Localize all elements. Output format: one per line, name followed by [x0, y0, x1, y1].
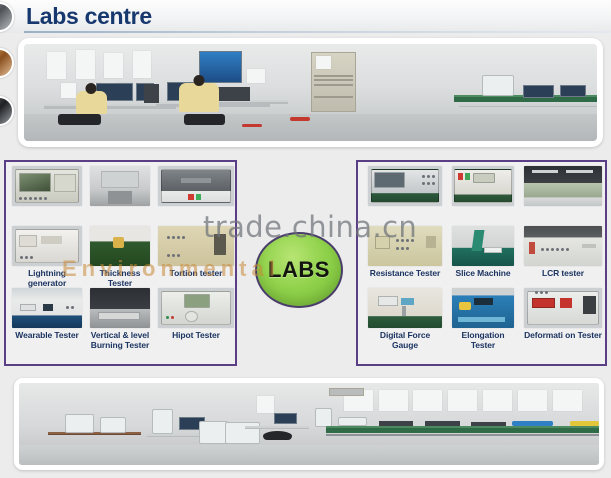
bottom-photo-card [14, 378, 604, 470]
cabinet-label [316, 56, 331, 70]
floor-item [290, 117, 310, 121]
equipment-cell[interactable]: Elongation Tester [452, 288, 514, 350]
equipment-thumbnail[interactable] [524, 166, 602, 206]
wall-panel [379, 390, 408, 411]
labs-badge-label: LABS [268, 257, 330, 283]
instrument [482, 75, 514, 96]
equipment-thumbnail[interactable] [90, 166, 150, 206]
equipment-cell[interactable] [524, 166, 602, 208]
instrument [100, 417, 126, 433]
person [76, 91, 108, 114]
wall-panel [413, 390, 442, 411]
equipment-thumbnail[interactable] [452, 226, 514, 266]
equipment-caption: Deformati on Tester [524, 330, 602, 340]
equipment-caption: LCR tester [524, 268, 602, 278]
desk [245, 426, 309, 429]
wall-paper [247, 69, 264, 83]
equipment-cell[interactable]: Vertical & level Burning Tester [90, 288, 150, 350]
equipment-thumbnail[interactable] [90, 288, 150, 328]
right-equipment-panel: Resistance Tester Slice Machine [356, 160, 607, 366]
equipment-cell[interactable]: Thickness Tester [90, 226, 150, 288]
labs-badge[interactable]: LABS [255, 232, 343, 308]
wall-paper [61, 83, 76, 99]
wall-paper [104, 53, 122, 78]
page-header: Labs centre [0, 0, 611, 33]
header-divider [24, 31, 611, 33]
wall-panel [518, 390, 547, 411]
wall-paper [133, 51, 151, 78]
equipment-thumbnail[interactable] [452, 166, 514, 206]
floor-item [242, 124, 262, 128]
equipment-cell[interactable]: Slice Machine [452, 226, 514, 278]
equipment [471, 422, 506, 427]
monitor [274, 413, 297, 424]
left-equipment-panel: Lightning generator Thickness Tester [4, 160, 237, 366]
wall-panel [448, 390, 477, 411]
monitor [560, 85, 586, 98]
equipment-cell[interactable]: Tortion tester [158, 226, 234, 278]
equipment-caption: Thickness Tester [90, 268, 150, 288]
equipment-thumbnail[interactable] [368, 166, 442, 206]
instrument [315, 408, 332, 428]
equipment-thumbnail[interactable] [12, 226, 82, 266]
wall-paper [257, 396, 274, 412]
equipment-caption: Hipot Tester [158, 330, 234, 340]
chair [263, 431, 292, 441]
equipment-caption: Digital Force Gauge [368, 330, 442, 350]
microscope [152, 409, 172, 434]
floor [19, 445, 599, 465]
wall-paper [76, 50, 95, 79]
page-title: Labs centre [26, 2, 152, 30]
bench-edge [459, 104, 597, 107]
equipment-thumbnail[interactable] [368, 226, 442, 266]
equipment-caption: Resistance Tester [368, 268, 442, 278]
equipment-thumbnail[interactable] [158, 288, 234, 328]
equipment-cell[interactable]: Lightning generator [12, 226, 82, 288]
equipment [425, 421, 460, 427]
bench-edge [326, 434, 599, 436]
equipment-caption: Wearable Tester [12, 330, 82, 340]
equipment [379, 421, 414, 427]
edge-thumbnail-2[interactable] [0, 48, 14, 78]
equipment-caption: Slice Machine [452, 268, 514, 278]
chair [184, 114, 224, 126]
equipment-thumbnail[interactable] [452, 288, 514, 328]
computer-tower [144, 84, 159, 103]
right-equipment-grid: Resistance Tester Slice Machine [362, 166, 601, 360]
blue-tray [512, 421, 553, 427]
person [179, 83, 219, 112]
equipment-cell[interactable] [12, 166, 82, 208]
equipment-caption: Elongation Tester [452, 330, 514, 350]
lab-panorama-bottom [19, 383, 599, 465]
equipment-thumbnail[interactable] [12, 288, 82, 328]
equipment-thumbnail[interactable] [12, 166, 82, 206]
equipment-caption: Tortion tester [158, 268, 234, 278]
wall-panel [553, 390, 582, 411]
equipment-thumbnail[interactable] [524, 226, 602, 266]
yellow-tray [570, 421, 599, 427]
equipment-thumbnail[interactable] [158, 226, 234, 266]
work-bench [326, 426, 599, 433]
equipment-thumbnail[interactable] [90, 226, 150, 266]
wall-paper [47, 52, 66, 79]
equipment-cell[interactable]: Digital Force Gauge [368, 288, 442, 350]
wall-panel [483, 390, 512, 411]
lab-panorama-top [24, 44, 597, 141]
floor [24, 114, 597, 141]
equipment-cell[interactable] [452, 166, 514, 208]
top-scene [24, 44, 597, 141]
equipment-cell[interactable] [158, 166, 234, 208]
instrument [338, 417, 367, 426]
printer [216, 87, 250, 102]
equipment-thumbnail[interactable] [368, 288, 442, 328]
instrument [199, 421, 228, 444]
desk [48, 432, 141, 435]
left-equipment-grid: Lightning generator Thickness Tester [10, 166, 231, 360]
equipment-cell[interactable]: Deformati on Tester [524, 288, 602, 340]
equipment-cell[interactable] [368, 166, 442, 208]
page-root: Labs centre [0, 0, 611, 478]
equipment-caption: Vertical & level Burning Tester [90, 330, 150, 350]
equipment-thumbnail[interactable] [158, 166, 234, 206]
chair [58, 114, 101, 126]
equipment-cell[interactable]: LCR tester [524, 226, 602, 278]
equipment-cell[interactable] [90, 166, 150, 208]
edge-thumbnail-3[interactable] [0, 96, 14, 126]
equipment-caption: Lightning generator [12, 268, 82, 288]
equipment-cell[interactable]: Resistance Tester [368, 226, 442, 278]
equipment-thumbnail[interactable] [524, 288, 602, 328]
equipment-cell[interactable]: Wearable Tester [12, 288, 82, 340]
instrument [65, 414, 94, 433]
top-photo-card [18, 38, 603, 147]
wall-display [199, 51, 242, 83]
ac-unit [329, 388, 364, 396]
bottom-scene [19, 383, 599, 465]
equipment-cell[interactable]: Hipot Tester [158, 288, 234, 340]
monitor [523, 85, 555, 99]
